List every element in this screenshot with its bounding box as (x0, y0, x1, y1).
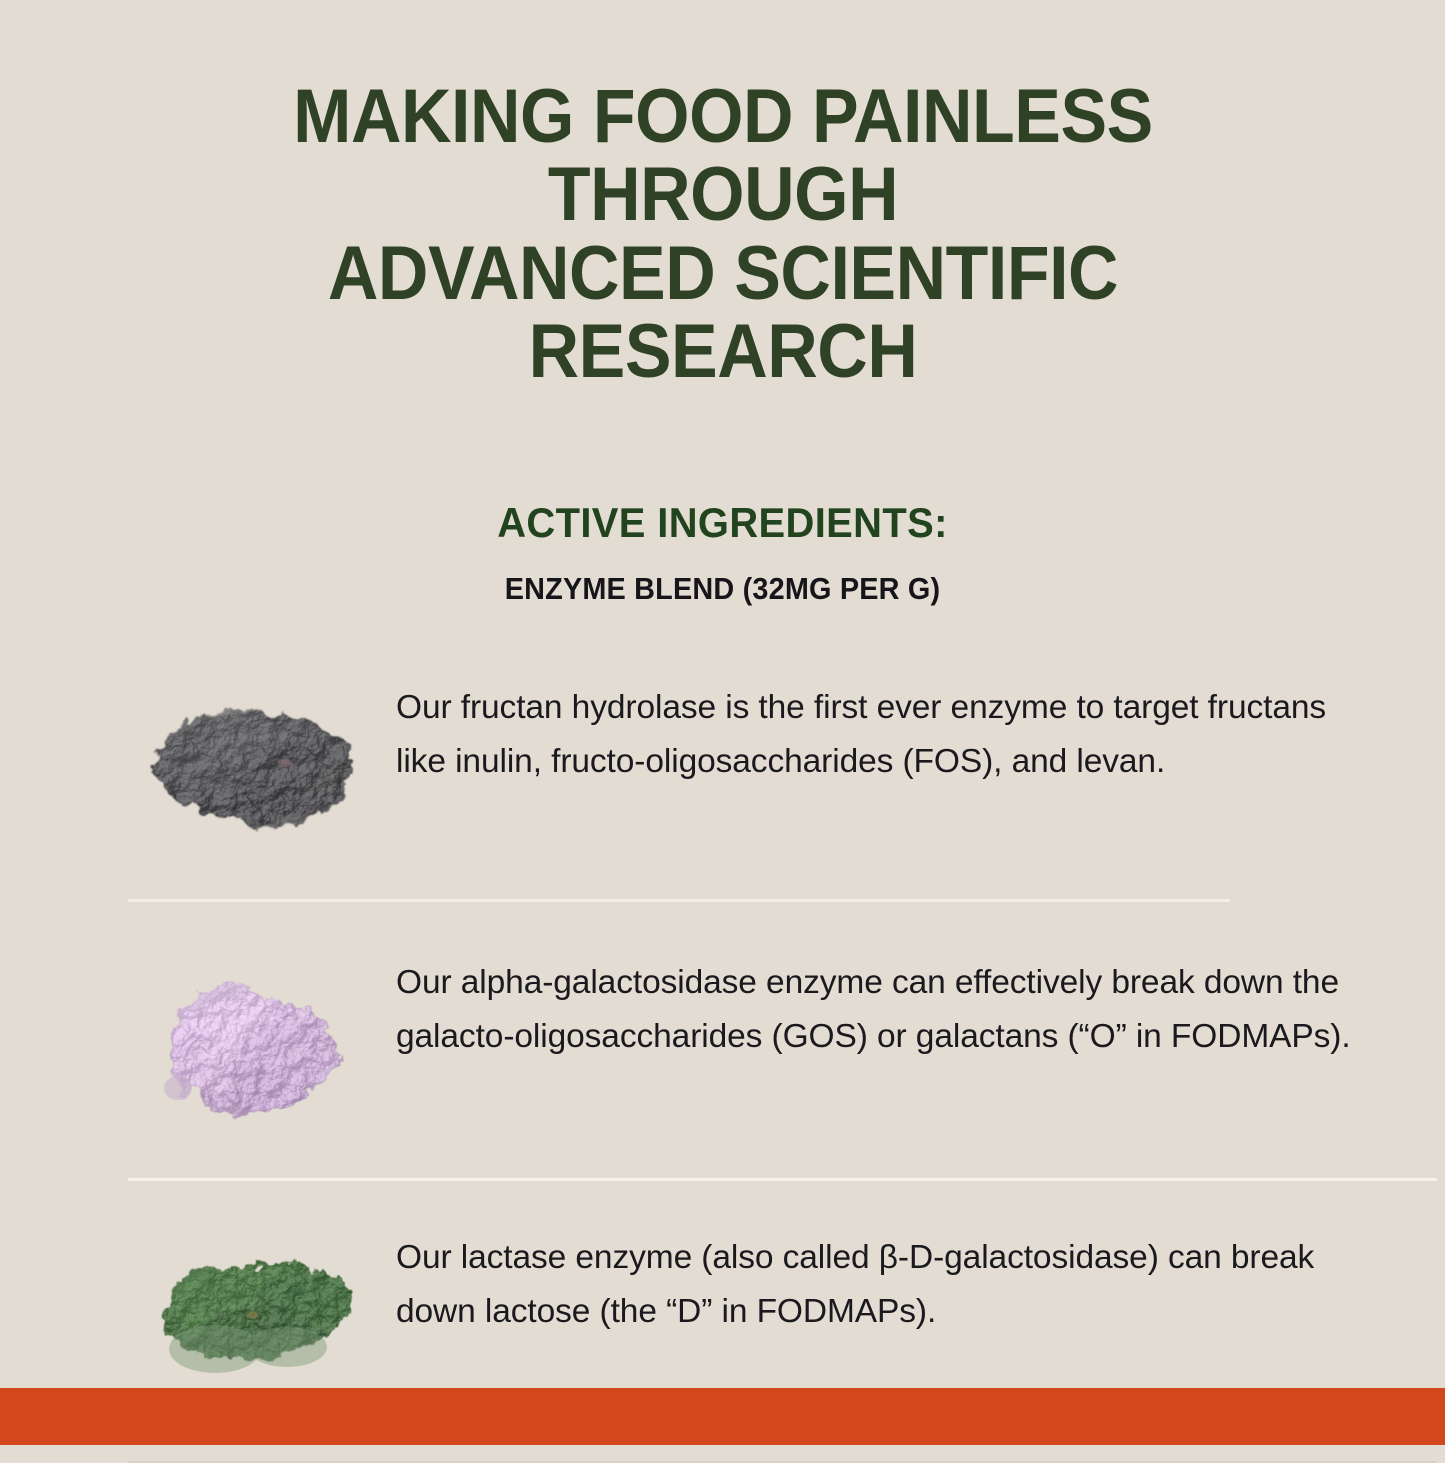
enzyme-blend-subtitle: ENZYME BLEND (32MG PER G) (51, 571, 1395, 607)
ingredient-description: Our alpha-galactosidase enzyme can effec… (378, 954, 1355, 1065)
protein-image-cell (128, 954, 378, 1132)
ingredient-row: Our fructan hydrolase is the first ever … (0, 679, 1445, 865)
page-title-line-1: MAKING FOOD PAINLESS THROUGH (129, 78, 1316, 235)
row-divider (128, 1178, 1437, 1181)
ingredient-row: Our alpha-galactosidase enzyme can effec… (0, 954, 1445, 1140)
page-title-line-2: ADVANCED SCIENTIFIC RESEARCH (129, 235, 1316, 392)
protein-image-cell (128, 679, 378, 845)
active-ingredients-title: ACTIVE INGREDIENTS: (36, 499, 1409, 547)
bottom-accent-bar (0, 1388, 1445, 1445)
ingredient-description: Our fructan hydrolase is the first ever … (378, 679, 1355, 790)
ingredients-page: MAKING FOOD PAINLESS THROUGH ADVANCED SC… (0, 0, 1445, 1445)
alpha-galactosidase-protein-structure-icon (140, 960, 366, 1132)
fructan-hydrolase-protein-structure-icon (135, 685, 371, 845)
ingredient-description: Our lactase enzyme (also called β-D-gala… (378, 1229, 1355, 1340)
lactase-protein-structure-icon (137, 1235, 369, 1397)
protein-image-cell (128, 1229, 378, 1397)
row-divider (128, 899, 1230, 902)
page-title: MAKING FOOD PAINLESS THROUGH ADVANCED SC… (129, 78, 1316, 391)
active-ingredients-heading: ACTIVE INGREDIENTS: ENZYME BLEND (32MG P… (0, 499, 1445, 607)
page-header: MAKING FOOD PAINLESS THROUGH ADVANCED SC… (0, 0, 1445, 391)
ingredient-rows: Our fructan hydrolase is the first ever … (0, 679, 1445, 1463)
